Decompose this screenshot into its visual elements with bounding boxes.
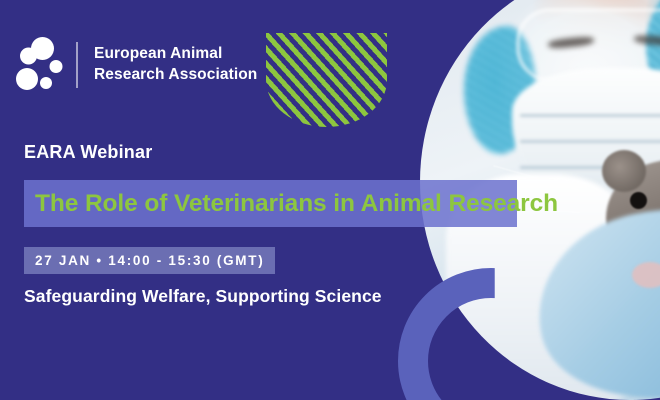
date-time-text: 27 JAN • 14:00 - 15:30 (GMT) <box>35 253 264 268</box>
rat-paw <box>632 262 660 288</box>
rat-ear-left <box>602 150 646 192</box>
rat-eye-left <box>630 192 647 209</box>
webinar-title: The Role of Veterinarians in Animal Rese… <box>24 190 558 218</box>
green-striped-semicircle <box>266 33 387 127</box>
tagline: Safeguarding Welfare, Supporting Science <box>24 286 382 307</box>
organisation-name: European Animal Research Association <box>94 44 257 85</box>
webinar-promo-banner: European Animal Research Association EAR… <box>0 0 660 400</box>
eyebrow-label: EARA Webinar <box>24 142 152 163</box>
face-mask-pleat <box>520 140 660 143</box>
face-mask-pleat <box>520 114 660 117</box>
eara-bubbles-logo-mark <box>14 36 70 94</box>
title-band: The Role of Veterinarians in Animal Rese… <box>24 180 517 227</box>
logo-divider <box>76 42 78 88</box>
date-time-badge: 27 JAN • 14:00 - 15:30 (GMT) <box>24 247 275 274</box>
eara-logo: European Animal Research Association <box>14 36 257 94</box>
